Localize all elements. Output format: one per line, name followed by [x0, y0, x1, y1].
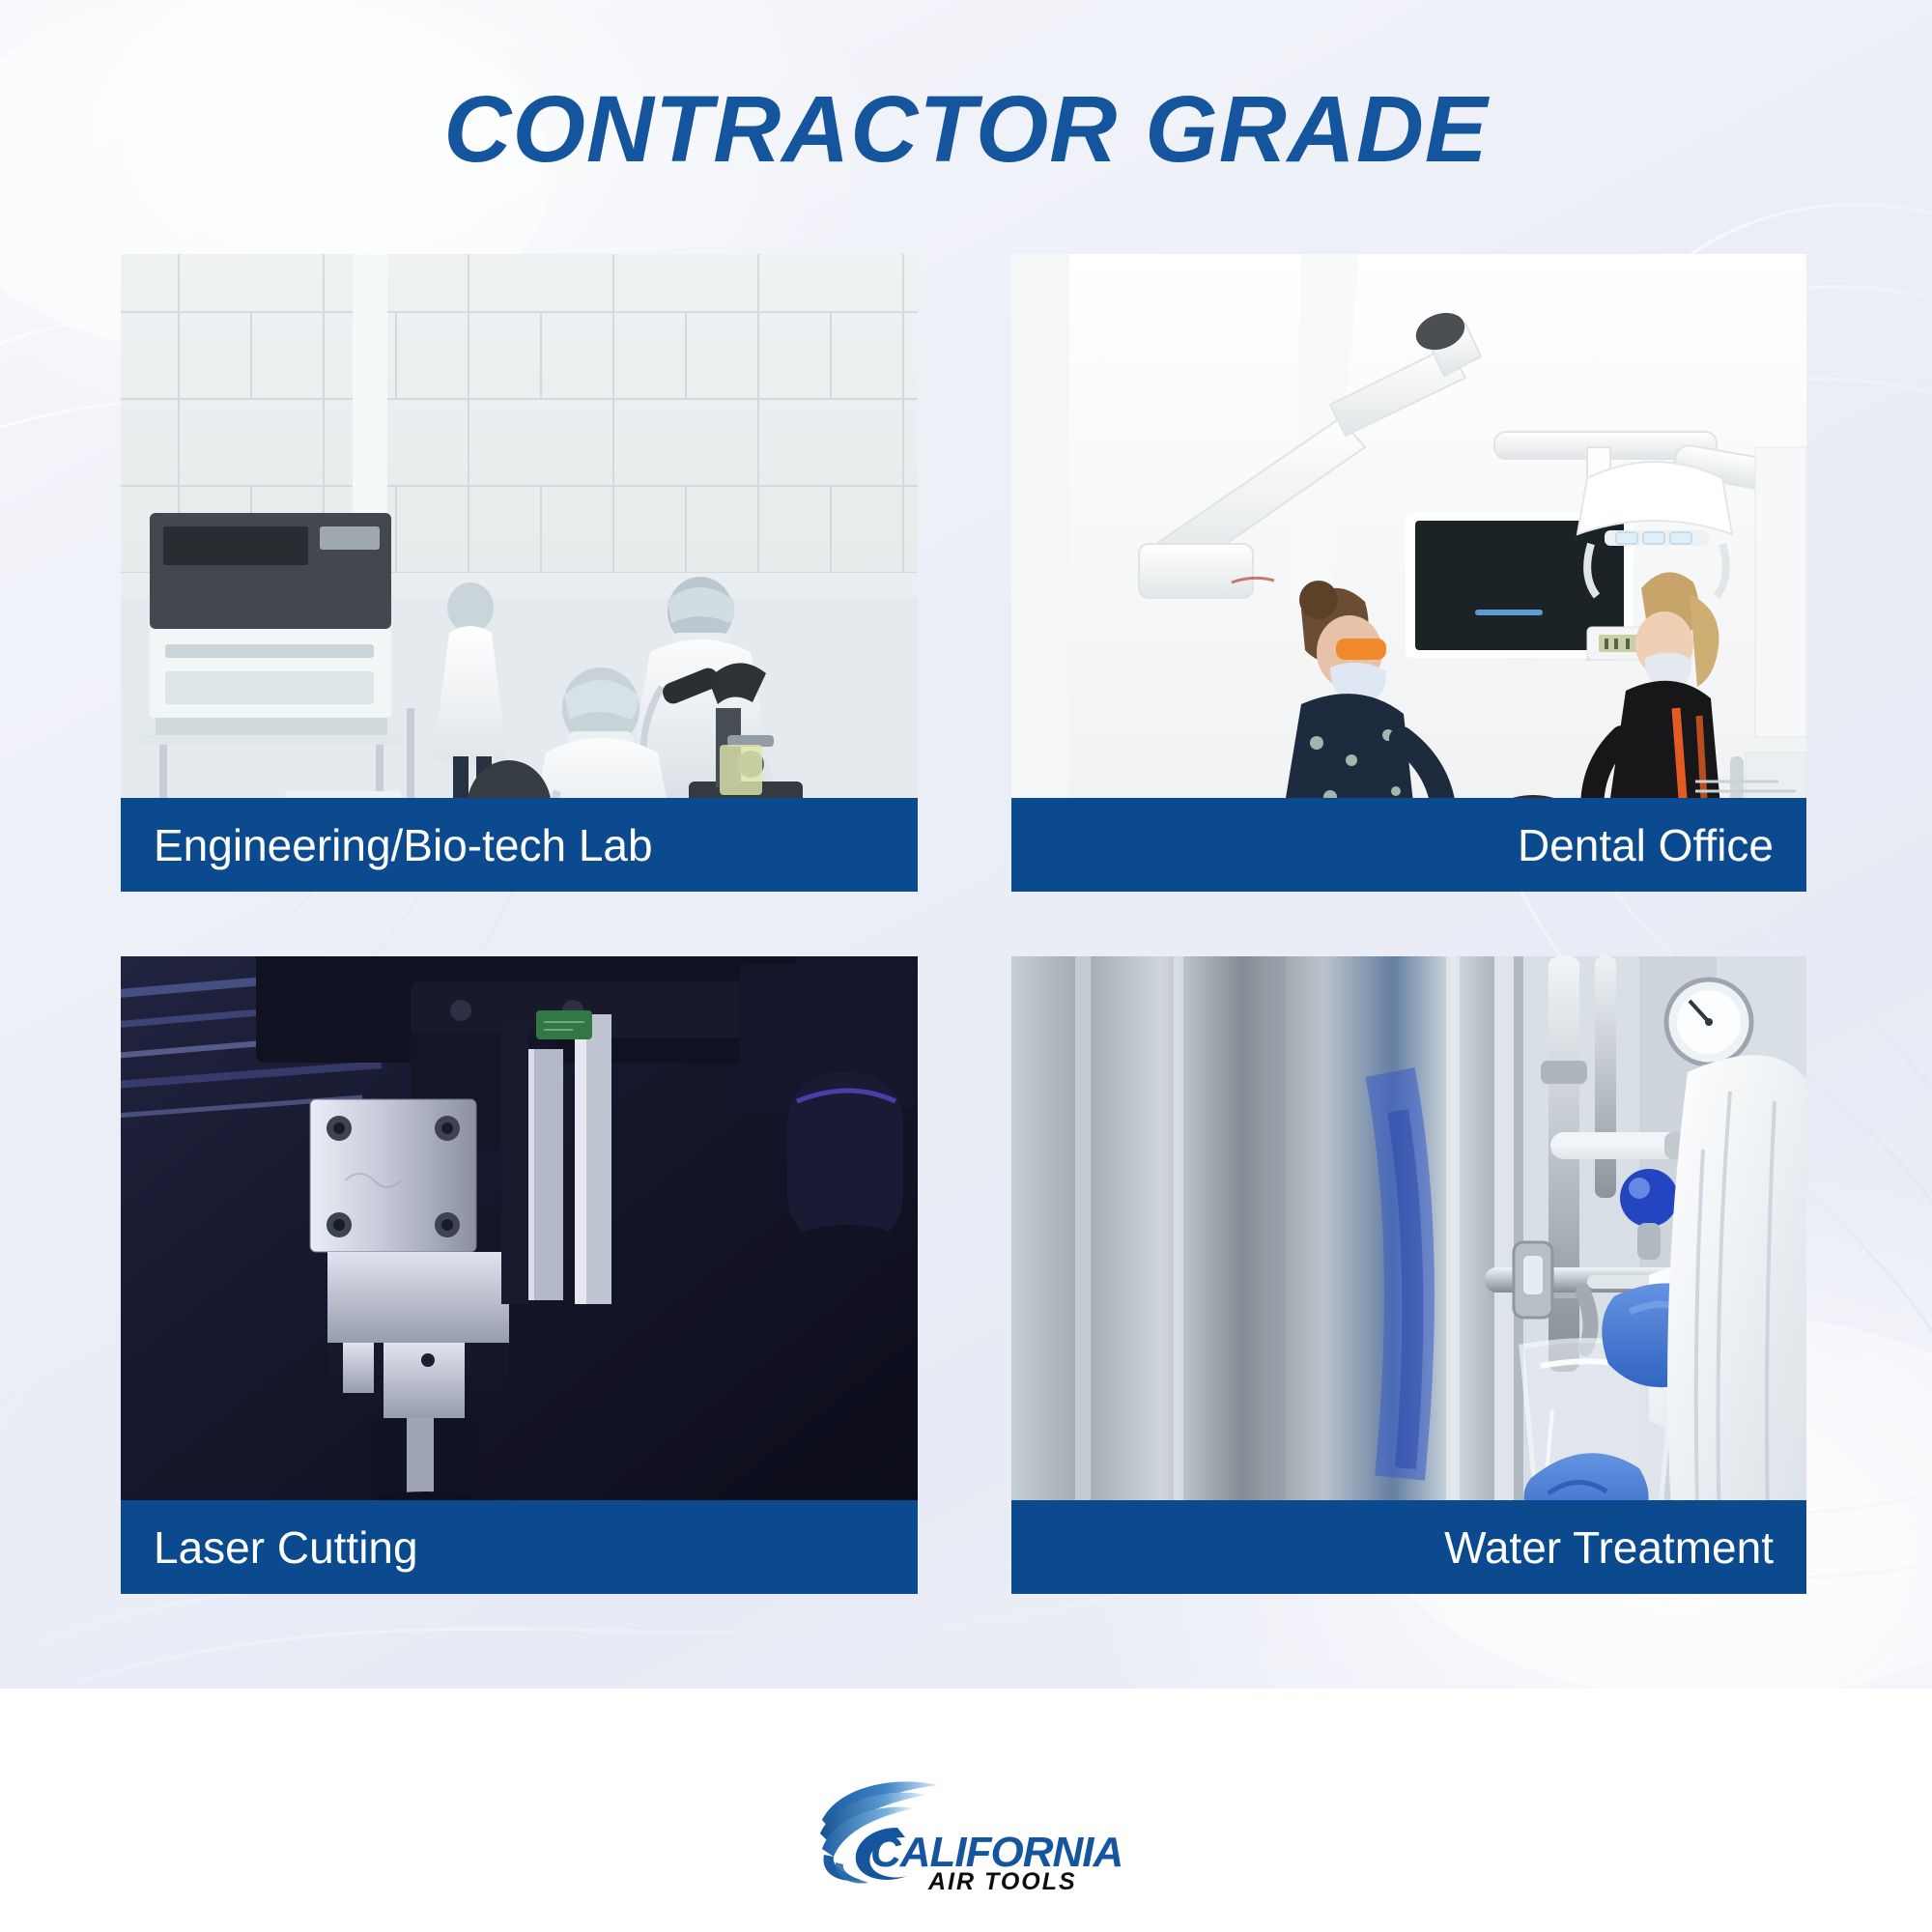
card-engineering-biotech-lab[interactable]: Engineering/Bio-tech Lab	[121, 254, 918, 892]
caption-label: Laser Cutting	[154, 1525, 418, 1570]
caption-bar: Water Treatment	[1011, 1500, 1806, 1594]
caption-label: Engineering/Bio-tech Lab	[154, 823, 653, 867]
laser-cutting-photo	[121, 956, 918, 1594]
card-dental-office[interactable]: Dental Office	[1011, 254, 1806, 892]
page-title: CONTRACTOR GRADE	[0, 75, 1932, 184]
engineering-biotech-lab-photo	[121, 254, 918, 892]
card-laser-cutting[interactable]: Laser Cutting	[121, 956, 918, 1594]
caption-bar: Engineering/Bio-tech Lab	[121, 798, 918, 892]
caption-label: Dental Office	[1518, 823, 1774, 867]
caption-bar: Dental Office	[1011, 798, 1806, 892]
logo-tagline: AIR TOOLS	[927, 1868, 1077, 1895]
dental-office-photo	[1011, 254, 1806, 892]
california-air-tools-logo: CALIFORNIA AIR TOOLS	[814, 1774, 1123, 1895]
card-water-treatment[interactable]: Water Treatment	[1011, 956, 1806, 1594]
caption-bar: Laser Cutting	[121, 1500, 918, 1594]
water-treatment-photo	[1011, 956, 1806, 1594]
caption-label: Water Treatment	[1444, 1525, 1774, 1570]
